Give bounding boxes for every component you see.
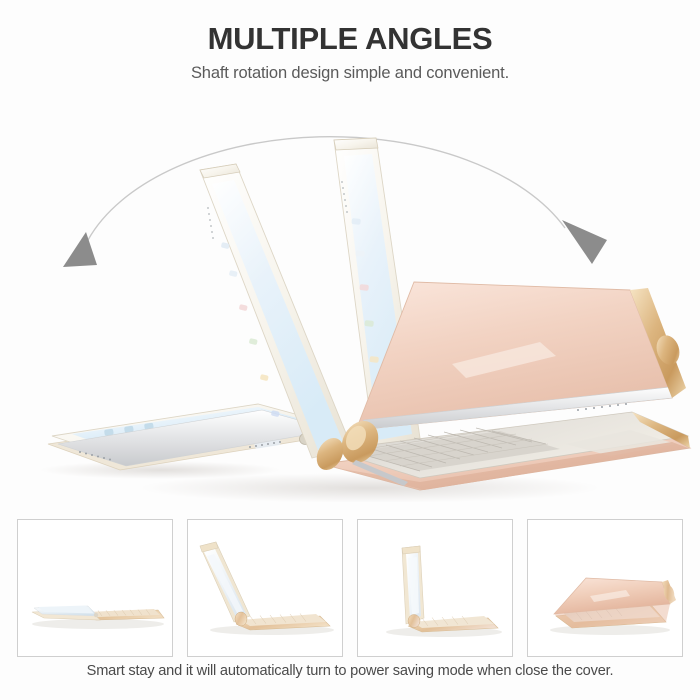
hero-image: [0, 92, 700, 502]
footer: Smart stay and it will automatically tur…: [0, 663, 700, 681]
thumb-closing[interactable]: [527, 519, 683, 657]
hero-illustration: [0, 92, 700, 502]
thumbnail-row: [17, 519, 683, 657]
thumb-vertical[interactable]: [357, 519, 513, 657]
product-feature-page: MULTIPLE ANGLES Shaft rotation design si…: [0, 0, 700, 700]
tablet-flat-open: [48, 404, 334, 470]
thumb-upright[interactable]: [187, 519, 343, 657]
arrow-head-right: [562, 220, 607, 264]
rotation-arc-arrow: [63, 137, 607, 267]
tablet-case-closed: [356, 282, 686, 430]
thumb-flat-lay[interactable]: [17, 519, 173, 657]
footer-caption: Smart stay and it will automatically tur…: [0, 663, 700, 681]
header: MULTIPLE ANGLES Shaft rotation design si…: [0, 0, 700, 83]
page-title: MULTIPLE ANGLES: [0, 0, 700, 56]
speaker-grille: [207, 207, 214, 239]
arrow-head-left: [63, 232, 97, 267]
page-subtitle: Shaft rotation design simple and conveni…: [0, 56, 700, 83]
